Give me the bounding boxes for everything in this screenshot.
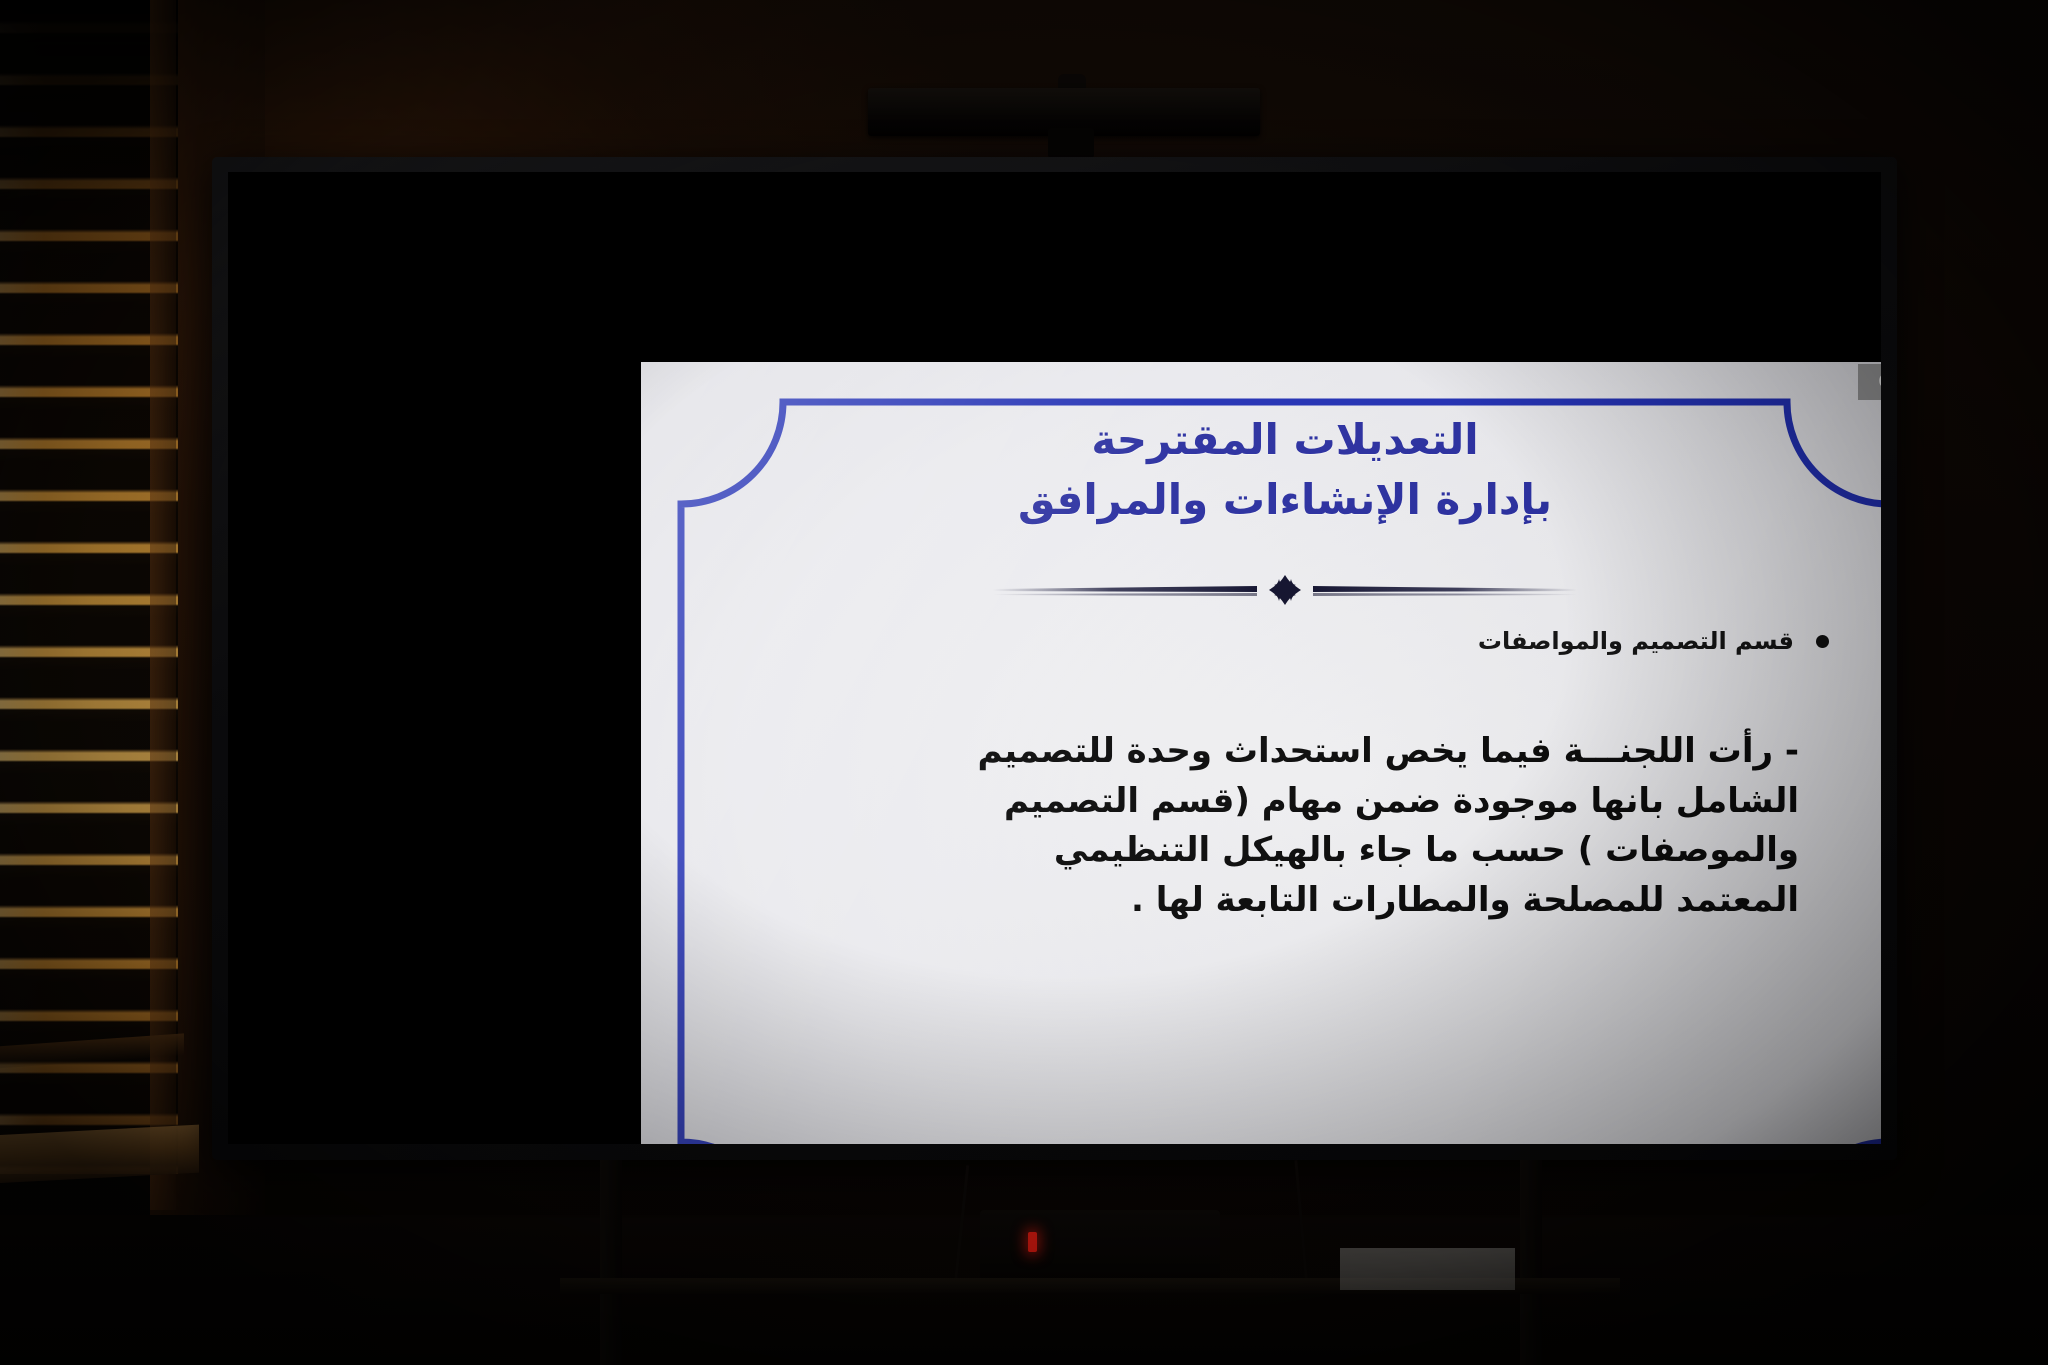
slide-title-line-2: بإدارة الإنشاءات والمرافق [641,470,1881,530]
tv-screen[interactable]: التعديلات المقترحة بإدارة الإنشاءات والم… [228,172,1881,1144]
window-frame [150,0,176,1210]
tv-stand-column-right [1520,1160,1542,1365]
av-equipment-box [980,1210,1220,1280]
body-line-1: - رأت اللجنـــة فيما يخص استحداث وحدة لل… [851,727,1799,777]
slide-title: التعديلات المقترحة بإدارة الإنشاءات والم… [641,410,1881,529]
bullet-item: قسم التصميم والمواصفات [1478,627,1829,655]
body-line-2: الشامل بانها موجودة ضمن مهام (قسم التصمي… [851,777,1799,827]
power-led-indicator [1028,1232,1037,1252]
presentation-slide[interactable]: التعديلات المقترحة بإدارة الإنشاءات والم… [641,362,1881,1144]
shelf-paper [1340,1248,1515,1290]
bullet-item-label: قسم التصميم والمواصفات [1478,627,1794,655]
ornamental-divider [985,570,1585,610]
slide-content: التعديلات المقترحة بإدارة الإنشاءات والم… [641,362,1881,1144]
connect-button[interactable]: Connect [1858,364,1881,400]
bullet-dot-icon [1816,635,1829,648]
body-line-4: المعتمد للمصلحة والمطارات التابعة لها . [851,876,1799,926]
tv-stand-column-left [600,1160,622,1365]
slide-body: - رأت اللجنـــة فيما يخص استحداث وحدة لل… [851,727,1799,926]
photo-scene: التعديلات المقترحة بإدارة الإنشاءات والم… [0,0,2048,1365]
body-line-3: والموصفات ) حسب ما جاء بالهيكل التنظيمي [851,826,1799,876]
camera-lens-icon [1048,128,1094,158]
slide-title-line-1: التعديلات المقترحة [641,410,1881,470]
